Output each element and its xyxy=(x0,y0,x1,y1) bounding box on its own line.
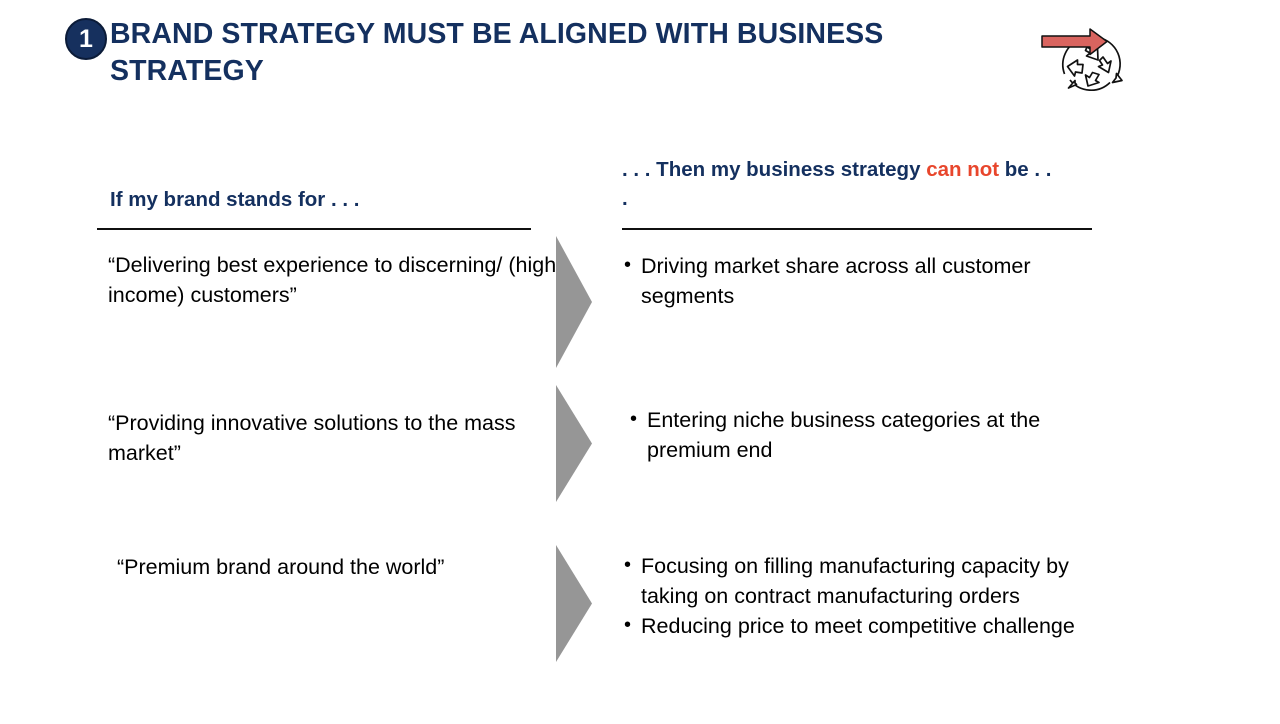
page-title: BRAND STRATEGY MUST BE ALIGNED WITH BUSI… xyxy=(110,16,990,90)
list-item: Focusing on filling manufacturing capaci… xyxy=(622,551,1092,611)
column-heading-business-accent: can not xyxy=(926,158,999,181)
brand-statement-row-1: “Delivering best experience to discernin… xyxy=(108,250,558,310)
column-heading-business: . . . Then my business strategy can not … xyxy=(622,155,1052,213)
list-item: Reducing price to meet competitive chall… xyxy=(622,611,1092,641)
slide-header: 1 BRAND STRATEGY MUST BE ALIGNED WITH BU… xyxy=(0,0,1280,120)
arrow-right-row-3 xyxy=(556,545,604,662)
column-heading-brand: If my brand stands for . . . xyxy=(110,185,530,214)
list-item: Driving market share across all customer… xyxy=(622,251,1092,311)
arrow-right-row-1 xyxy=(556,236,604,368)
column-heading-business-part1: . . . Then my business strategy xyxy=(622,158,926,181)
divider-right xyxy=(622,228,1092,230)
consequence-list-row-2: Entering niche business categories at th… xyxy=(628,405,1098,465)
consequence-list-row-3: Focusing on filling manufacturing capaci… xyxy=(622,551,1092,641)
step-number-badge: 1 xyxy=(65,18,107,60)
divider-left xyxy=(97,228,531,230)
circular-process-arrows-logo xyxy=(1040,18,1135,98)
arrow-right-row-2 xyxy=(556,385,604,502)
brand-statement-row-3: “Premium brand around the world” xyxy=(117,552,567,582)
brand-statement-row-2: “Providing innovative solutions to the m… xyxy=(108,408,558,468)
consequence-list-row-1: Driving market share across all customer… xyxy=(622,251,1092,311)
list-item: Entering niche business categories at th… xyxy=(628,405,1098,465)
